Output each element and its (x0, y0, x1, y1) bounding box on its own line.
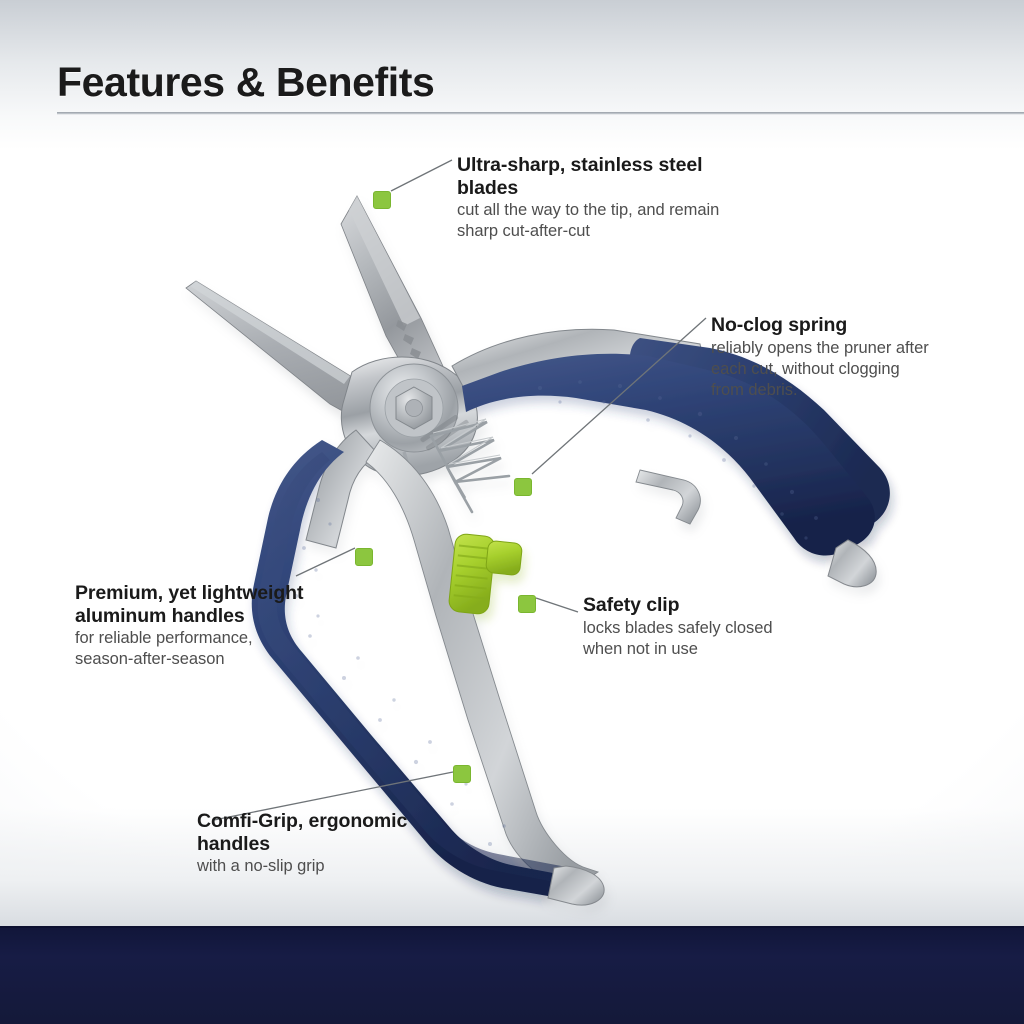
callout-clip: Safety clip locks blades safely closed w… (583, 594, 813, 660)
callout-spring-heading: No-clog spring (711, 314, 931, 337)
marker-spring[interactable] (514, 478, 532, 496)
leader-line-aluminum (296, 548, 355, 576)
footer-band (0, 926, 1024, 1024)
callout-aluminum-subtext: for reliable performance, season-after-s… (75, 628, 315, 670)
callout-spring: No-clog spring reliably opens the pruner… (711, 314, 931, 401)
callout-aluminum: Premium, yet lightweight aluminum handle… (75, 582, 315, 670)
callout-clip-heading: Safety clip (583, 594, 813, 617)
marker-blades[interactable] (373, 191, 391, 209)
callout-grip-subtext: with a no-slip grip (197, 856, 447, 877)
callout-blades-subtext: cut all the way to the tip, and remain s… (457, 200, 727, 242)
leader-line-blades (391, 160, 452, 191)
leader-line-spring (532, 318, 706, 474)
marker-grip[interactable] (453, 765, 471, 783)
callout-spring-subtext: reliably opens the pruner after each cut… (711, 338, 931, 401)
callout-blades-heading: Ultra-sharp, stainless steel blades (457, 154, 727, 199)
infographic-page: Features & Benefits (0, 0, 1024, 1024)
marker-aluminum[interactable] (355, 548, 373, 566)
callout-grip: Comfi-Grip, ergonomic handles with a no-… (197, 810, 447, 877)
leader-line-clip (536, 598, 578, 612)
marker-clip[interactable] (518, 595, 536, 613)
callout-grip-heading: Comfi-Grip, ergonomic handles (197, 810, 447, 855)
callout-clip-subtext: locks blades safely closed when not in u… (583, 618, 813, 660)
callout-aluminum-heading: Premium, yet lightweight aluminum handle… (75, 582, 315, 627)
callout-blades: Ultra-sharp, stainless steel blades cut … (457, 154, 727, 242)
